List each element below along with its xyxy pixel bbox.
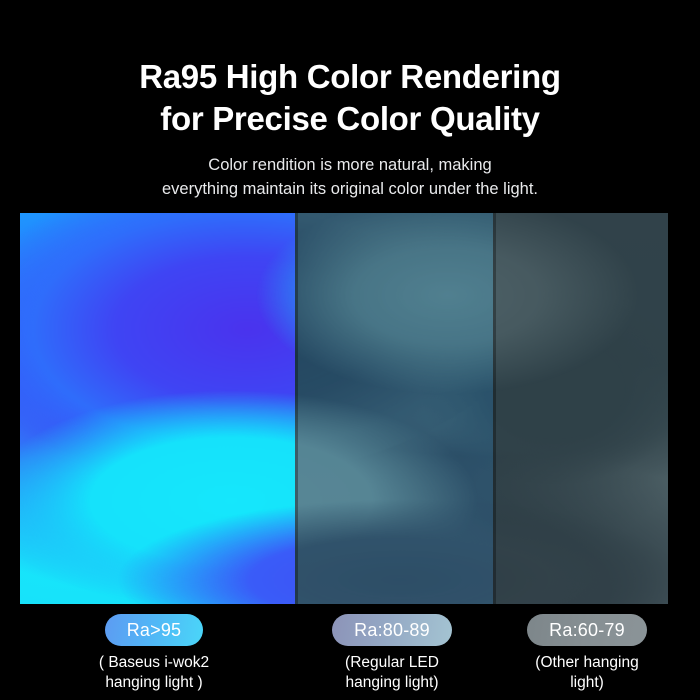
legend-column-low: Ra:60-79 (Other hanging light) <box>469 614 700 693</box>
subtitle-block: Color rendition is more natural, making … <box>0 153 700 201</box>
panel-divider-2 <box>493 213 496 604</box>
legend-column-high: Ra>95 ( Baseus i-wok2 hanging light ) <box>36 614 272 693</box>
panel-dim-low <box>493 213 668 604</box>
status-badge-ra60-79: Ra:60-79 <box>527 614 647 646</box>
subtitle-line-1: Color rendition is more natural, making <box>0 153 700 177</box>
status-badge-ra80-89: Ra:80-89 <box>332 614 452 646</box>
status-badge-ra95: Ra>95 <box>105 614 204 646</box>
panel-overlay-regular-led <box>295 213 493 604</box>
color-comparison-image <box>20 213 668 604</box>
panel-overlay-other-light <box>493 213 668 604</box>
panel-dim-medium <box>295 213 493 604</box>
heading-block: Ra95 High Color Rendering for Precise Co… <box>0 56 700 140</box>
subtitle-line-2: everything maintain its original color u… <box>0 177 700 201</box>
page-title-line-1: Ra95 High Color Rendering <box>0 56 700 98</box>
promo-page: Ra95 High Color Rendering for Precise Co… <box>0 0 700 700</box>
panel-divider-1 <box>295 213 298 604</box>
legend-caption-other-light: (Other hanging light) <box>469 653 700 693</box>
legend-caption-baseus: ( Baseus i-wok2 hanging light ) <box>36 653 272 693</box>
page-title-line-2: for Precise Color Quality <box>0 98 700 140</box>
